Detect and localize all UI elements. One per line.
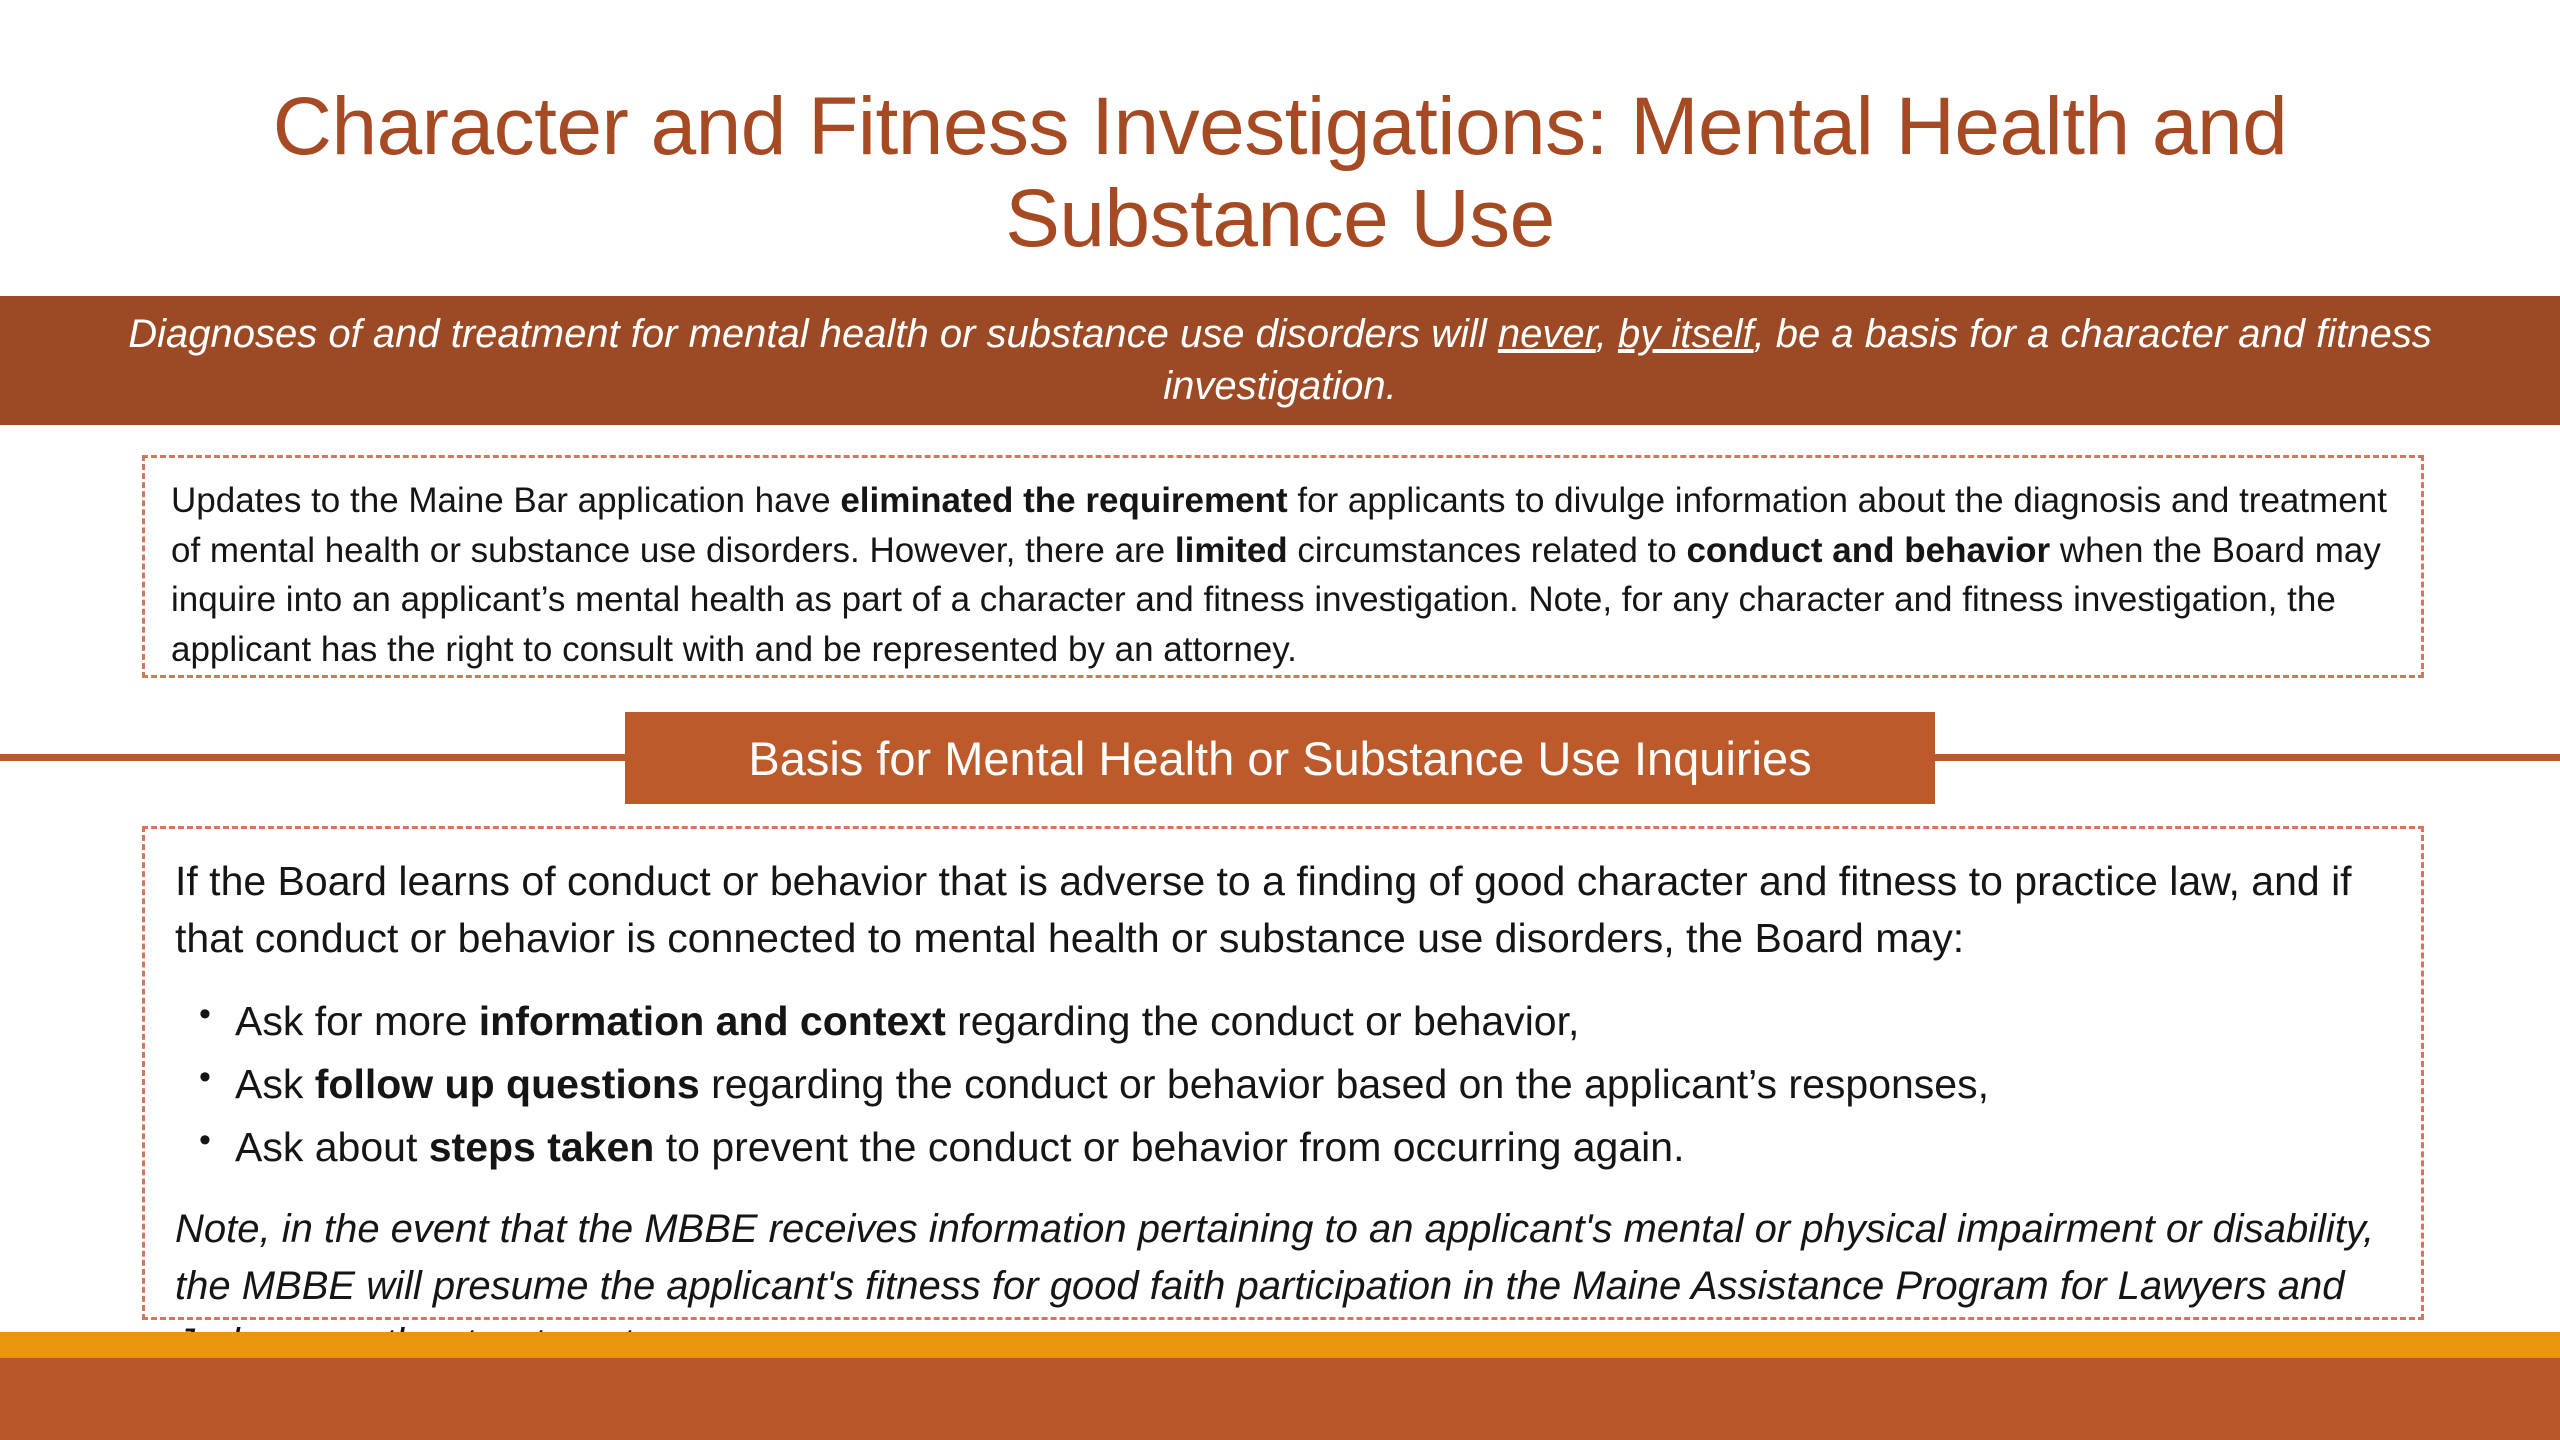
- bullet-2-pre: Ask: [235, 1061, 315, 1107]
- intro-bold-conduct-and-behavior: conduct and behavior: [1686, 531, 2050, 570]
- statement-banner-text: Diagnoses of and treatment for mental he…: [14, 309, 2546, 411]
- intro-text-box: Updates to the Maine Bar application hav…: [142, 455, 2424, 678]
- bullet-3-bold: steps taken: [429, 1124, 655, 1170]
- intro-segment-3: circumstances related to: [1288, 531, 1687, 570]
- bullet-2-post: regarding the conduct or behavior based …: [700, 1061, 1989, 1107]
- bullet-1-post: regarding the conduct or behavior,: [946, 998, 1580, 1044]
- intro-bold-eliminated-requirement: eliminated the requirement: [840, 481, 1287, 520]
- slide-title: Character and Fitness Investigations: Me…: [120, 81, 2440, 265]
- footer-band: [0, 1358, 2560, 1440]
- statement-underline-by-itself: by itself: [1618, 312, 1754, 356]
- statement-segment-1: Diagnoses of and treatment for mental he…: [128, 312, 1498, 356]
- statement-segment-2: ,: [1596, 312, 1618, 356]
- section-header-label: Basis for Mental Health or Substance Use…: [748, 735, 1811, 782]
- bullet-1-bold: information and context: [479, 998, 946, 1044]
- basis-text-box: If the Board learns of conduct or behavi…: [142, 826, 2424, 1320]
- intro-segment-1: Updates to the Maine Bar application hav…: [171, 481, 840, 520]
- section-header-banner: Basis for Mental Health or Substance Use…: [625, 712, 1935, 804]
- intro-bold-limited: limited: [1175, 531, 1288, 570]
- statement-banner: Diagnoses of and treatment for mental he…: [0, 296, 2560, 425]
- intro-paragraph: Updates to the Maine Bar application hav…: [171, 476, 2395, 675]
- bullet-1-pre: Ask for more: [235, 998, 479, 1044]
- footer-accent-bar: [0, 1332, 2560, 1358]
- statement-underline-never: never: [1498, 312, 1596, 356]
- bullet-2-bold: follow up questions: [315, 1061, 700, 1107]
- list-item: Ask follow up questions regarding the co…: [197, 1053, 2391, 1116]
- basis-bullet-list: Ask for more information and context reg…: [175, 990, 2391, 1179]
- bullet-3-post: to prevent the conduct or behavior from …: [654, 1124, 1684, 1170]
- basis-lead-paragraph: If the Board learns of conduct or behavi…: [175, 853, 2391, 968]
- list-item: Ask about steps taken to prevent the con…: [197, 1116, 2391, 1179]
- list-item: Ask for more information and context reg…: [197, 990, 2391, 1053]
- bullet-3-pre: Ask about: [235, 1124, 429, 1170]
